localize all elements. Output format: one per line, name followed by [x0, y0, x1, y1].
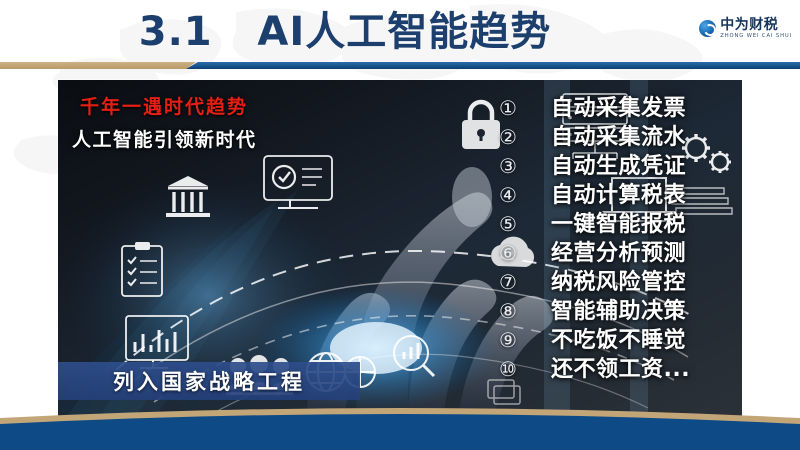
- list-item-label: 纳税风险管控: [551, 264, 686, 296]
- footer-curve: [0, 402, 800, 450]
- header: 3.1 AI人工智能趋势 中为财税 ZHONG WEI CAI SHUI: [0, 0, 800, 60]
- list-item-label: 自动采集流水: [551, 119, 686, 151]
- list-item-label: 经营分析预测: [551, 235, 686, 267]
- logo-name-cn: 中为财税: [720, 18, 792, 32]
- divider-bar-blue: [186, 62, 800, 69]
- headline-red: 千年一遇时代趋势: [80, 92, 257, 119]
- page-title: 3.1 AI人工智能趋势: [0, 8, 690, 56]
- headline-white: 人工智能引领新时代: [72, 125, 257, 152]
- brand-logo: 中为财税 ZHONG WEI CAI SHUI: [699, 18, 792, 39]
- list-item-number: ④: [499, 183, 551, 207]
- list-item-label: 还不领工资...: [551, 351, 690, 383]
- list-item: ④ 自动计算税表: [499, 177, 690, 206]
- list-item-number: ③: [499, 154, 551, 178]
- list-item: ⑧ 智能辅助决策: [499, 293, 690, 322]
- headline-block: 千年一遇时代趋势 人工智能引领新时代: [80, 92, 257, 152]
- slide: 3.1 AI人工智能趋势 中为财税 ZHONG WEI CAI SHUI: [0, 0, 800, 450]
- list-item-label: 一键智能报税: [551, 206, 686, 238]
- list-item-number: ①: [499, 96, 551, 120]
- list-item: ③ 自动生成凭证: [499, 148, 690, 177]
- list-item-label: 不吃饭不睡觉: [551, 322, 686, 354]
- list-item: ⑨ 不吃饭不睡觉: [499, 322, 690, 351]
- list-item-number: ②: [499, 125, 551, 149]
- logo-name-en: ZHONG WEI CAI SHUI: [720, 34, 792, 39]
- list-item-number: ⑦: [499, 270, 551, 294]
- list-item: ② 自动采集流水: [499, 119, 690, 148]
- list-item: ① 自动采集发票: [499, 90, 690, 119]
- list-item-number: ⑨: [499, 328, 551, 352]
- list-item-label: 智能辅助决策: [551, 293, 686, 325]
- strategy-banner: 列入国家战略工程: [58, 362, 360, 400]
- list-item: ⑥ 经营分析预测: [499, 235, 690, 264]
- list-item-number: ⑧: [499, 299, 551, 323]
- list-item-label: 自动采集发票: [551, 90, 686, 122]
- list-item: ⑤ 一键智能报税: [499, 206, 690, 235]
- list-item-number: ⑥: [499, 241, 551, 265]
- strategy-banner-label: 列入国家战略工程: [113, 366, 305, 396]
- list-item: ⑦ 纳税风险管控: [499, 264, 690, 293]
- list-item: ⑩ 还不领工资...: [499, 351, 690, 380]
- list-item-label: 自动生成凭证: [551, 148, 686, 180]
- feature-list: ① 自动采集发票 ② 自动采集流水 ③ 自动生成凭证 ④ 自动计算税表 ⑤ 一键…: [499, 90, 690, 380]
- list-item-number: ⑤: [499, 212, 551, 236]
- logo-circle-icon: [699, 20, 716, 37]
- content-panel: 千年一遇时代趋势 人工智能引领新时代 ① 自动采集发票 ② 自动采集流水 ③ 自…: [58, 80, 742, 420]
- divider-bar-gold: [0, 62, 196, 69]
- list-item-number: ⑩: [499, 357, 551, 381]
- list-item-label: 自动计算税表: [551, 177, 686, 209]
